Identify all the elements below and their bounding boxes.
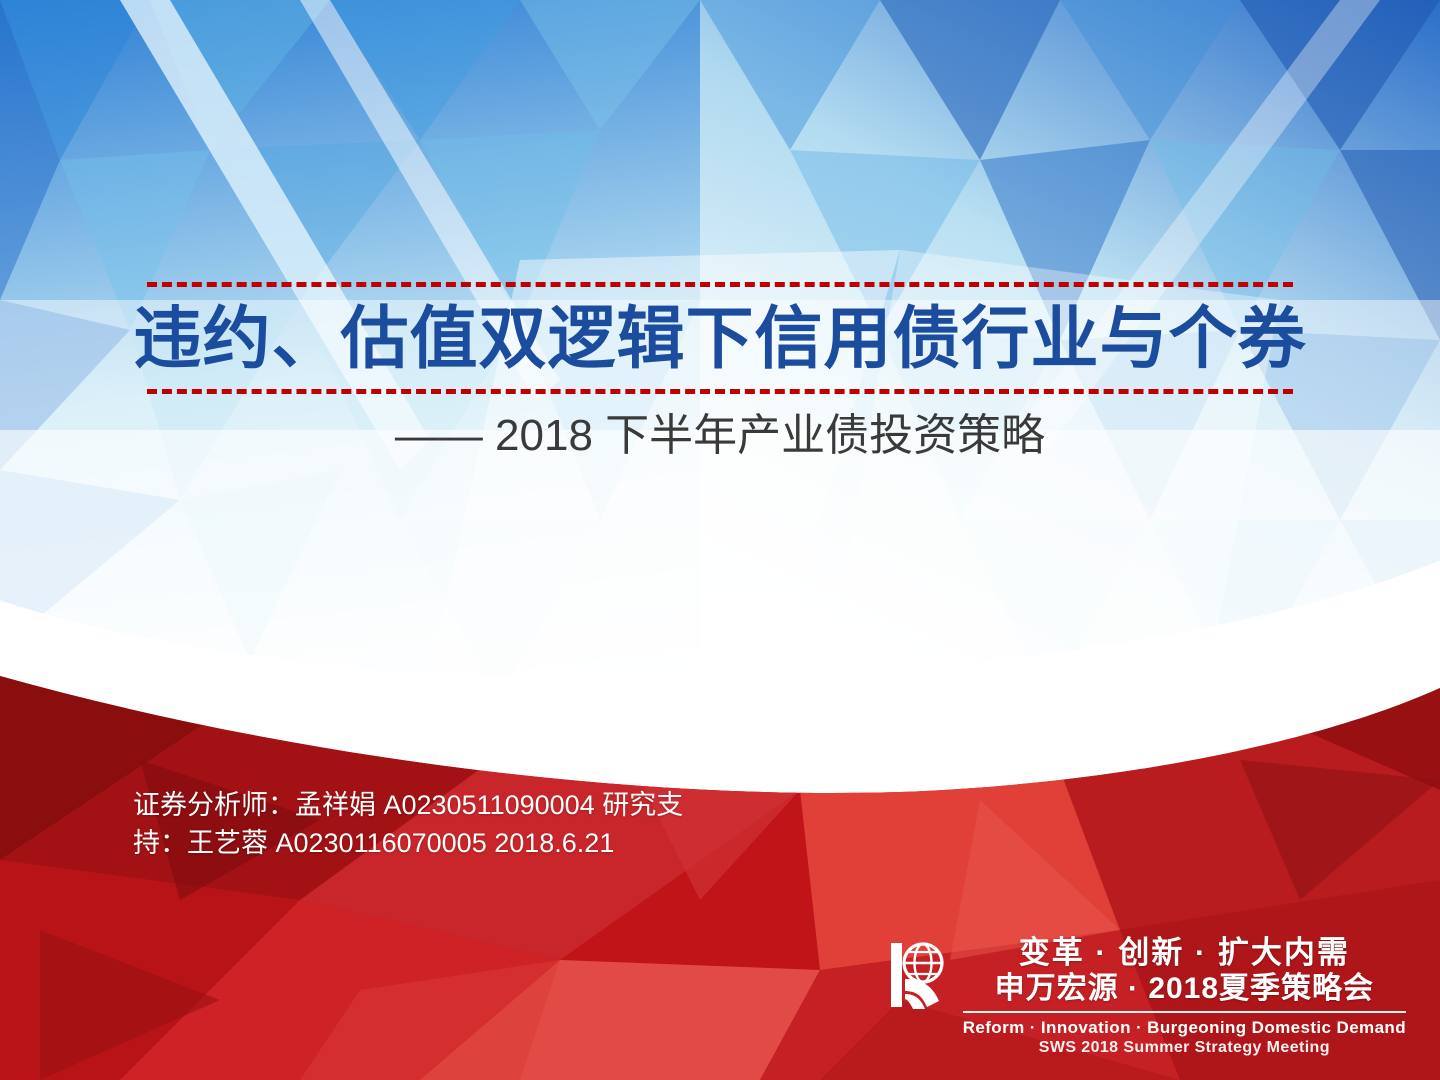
analyst-credits-line-1: 证券分析师：孟祥娟 A0230511090004 研究支 [133,786,853,824]
presentation-slide: 违约、估值双逻辑下信用债行业与个券 —— 2018 下半年产业债投资策略 证券分… [0,0,1440,1080]
title-block: 违约、估值双逻辑下信用债行业与个券 —— 2018 下半年产业债投资策略 [0,282,1440,464]
page-subtitle: —— 2018 下半年产业债投资策略 [0,408,1440,464]
event-name-cn: 申万宏源 · 2018夏季策略会 [995,971,1374,1006]
event-logo-divider [963,1011,1406,1013]
analyst-credits-line-2: 持：王艺蓉 A0230116070005 2018.6.21 [133,824,853,862]
event-slogan-en: Reform · Innovation · Burgeoning Domesti… [963,1017,1406,1038]
analyst-credits: 证券分析师：孟祥娟 A0230511090004 研究支 持：王艺蓉 A0230… [133,786,853,862]
event-logo-lockup: 变革 · 创新 · 扩大内需 申万宏源 · 2018夏季策略会 Reform ·… [889,935,1406,1058]
slide-background [0,0,1440,1080]
event-name-en: SWS 2018 Summer Strategy Meeting [1039,1038,1330,1058]
event-logo-text: 变革 · 创新 · 扩大内需 申万宏源 · 2018夏季策略会 Reform ·… [963,935,1406,1058]
page-title: 违约、估值双逻辑下信用债行业与个券 [0,287,1440,389]
globe-logo-icon [889,939,953,1011]
title-bottom-divider [147,389,1293,394]
event-slogan-cn: 变革 · 创新 · 扩大内需 [1019,935,1350,971]
